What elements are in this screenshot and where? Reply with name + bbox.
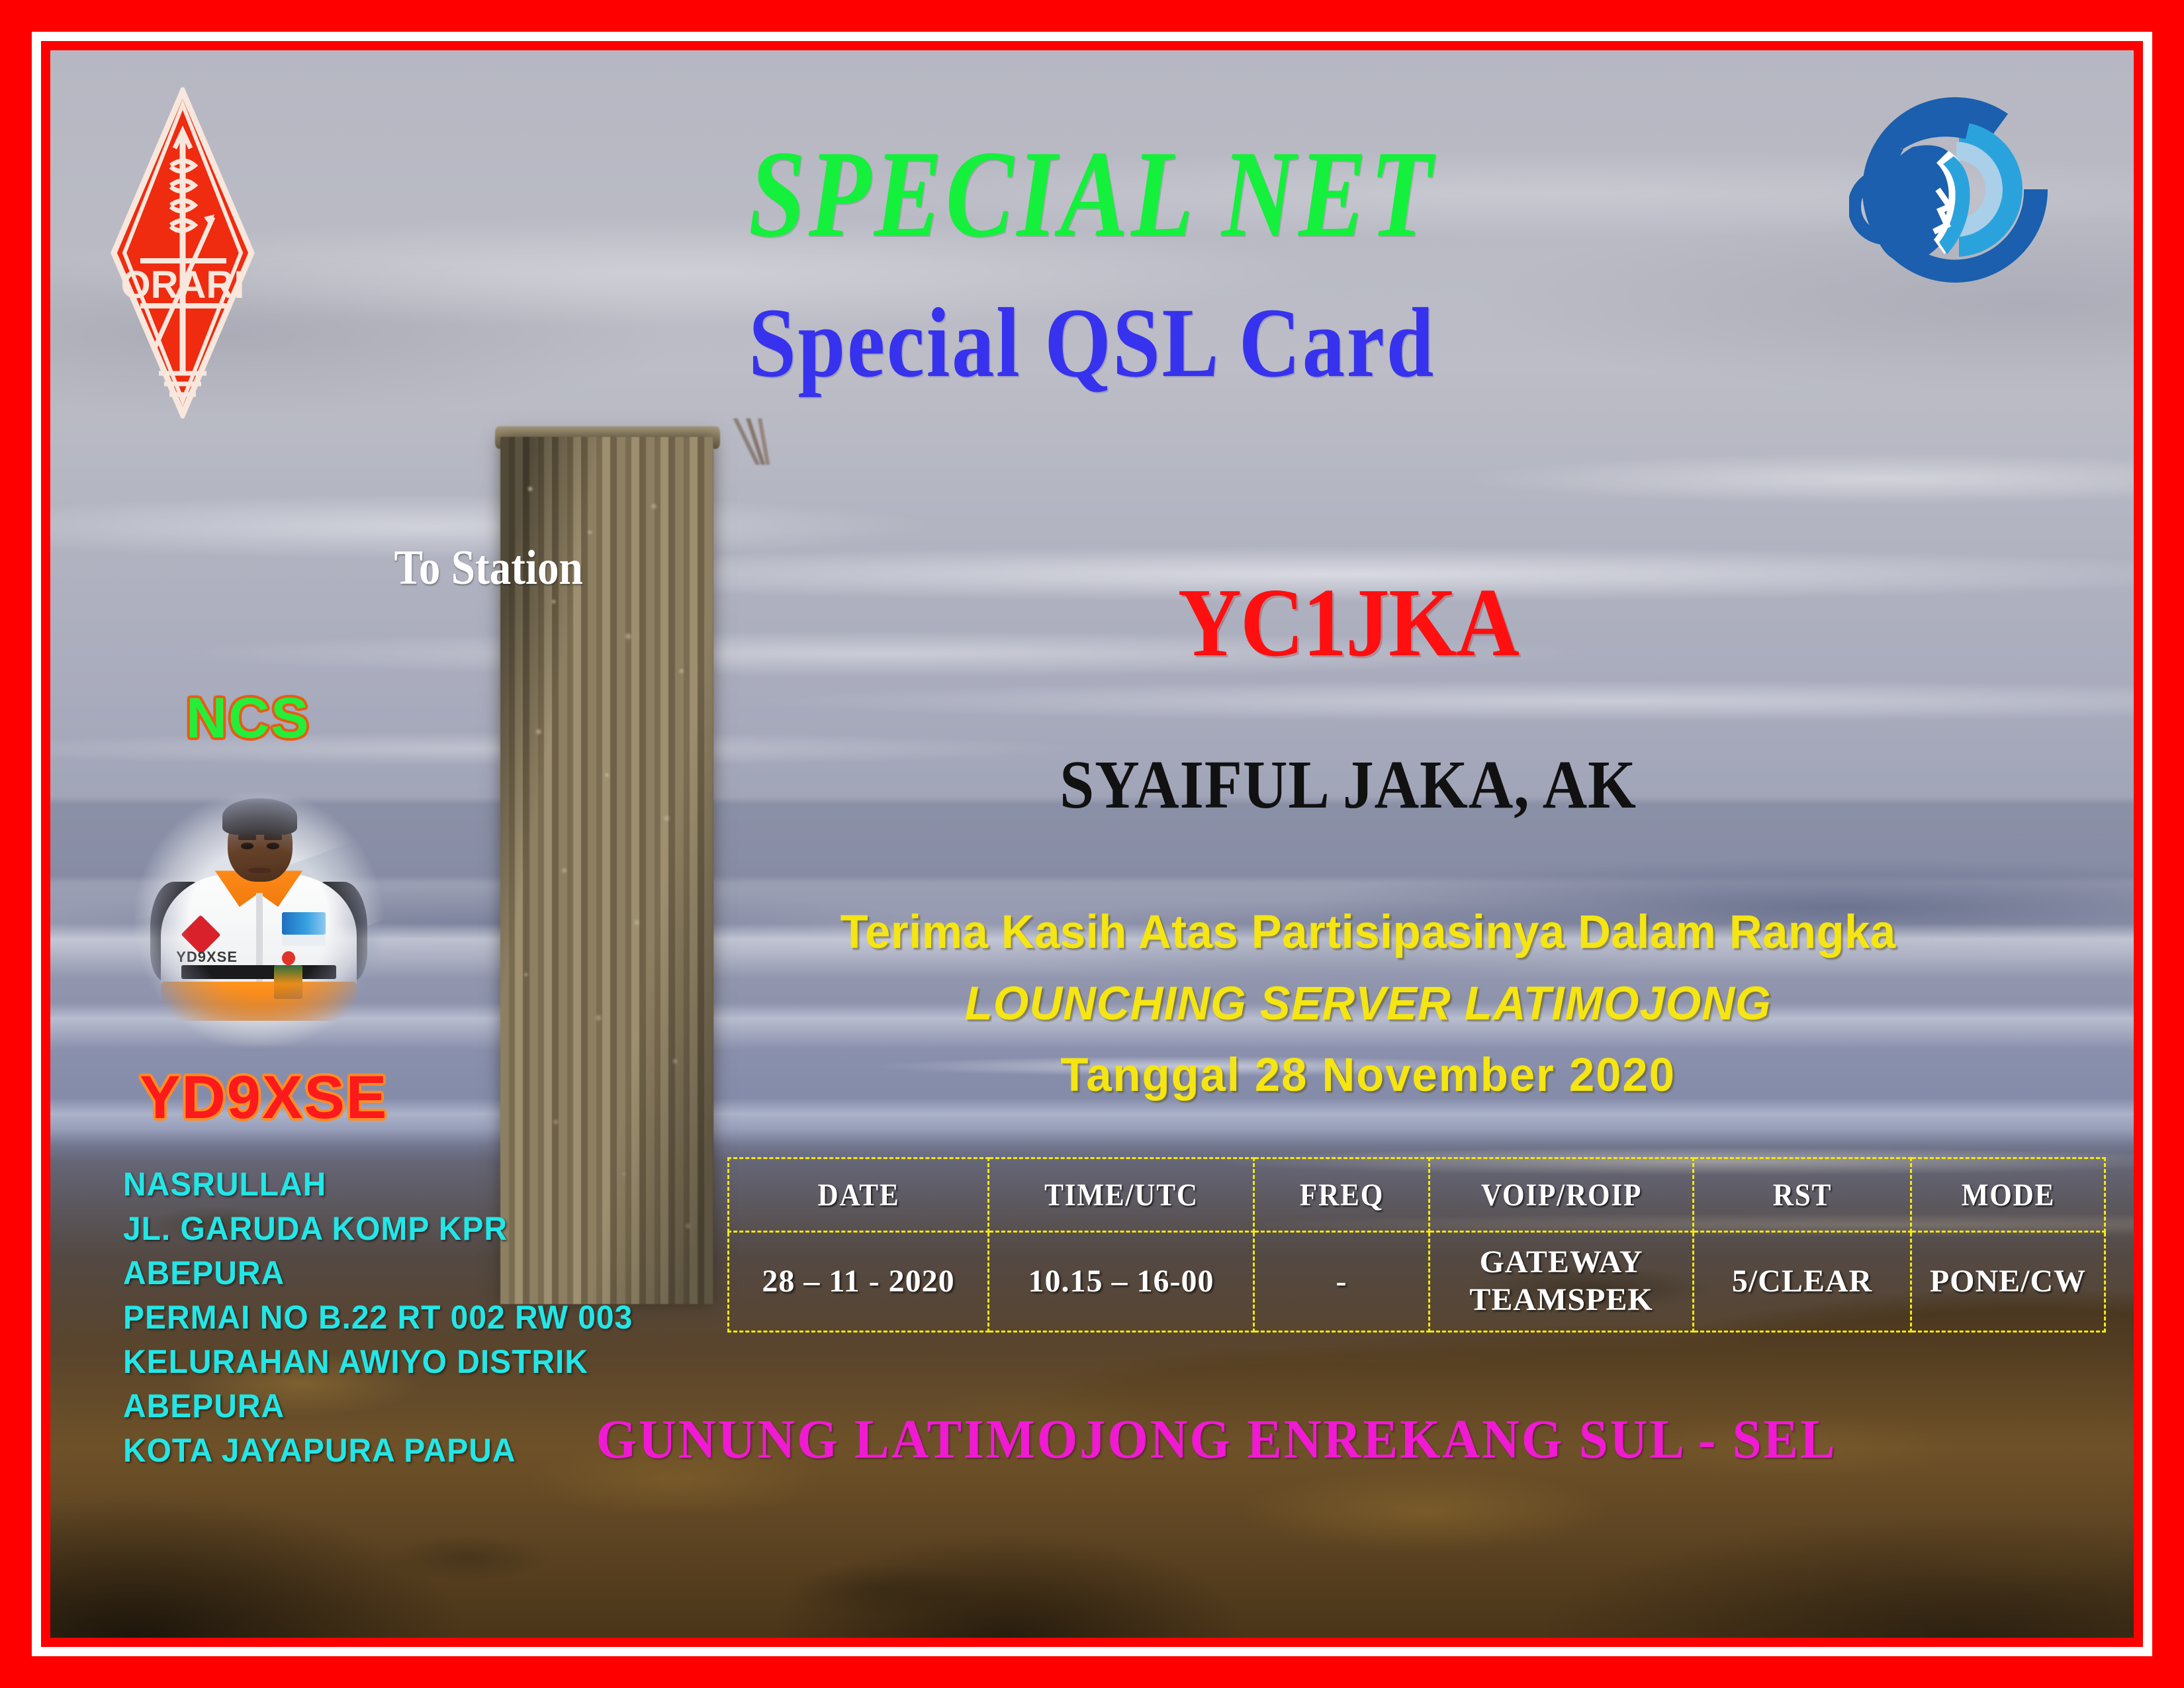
page-subtitle: Special QSL Card bbox=[196, 286, 1987, 400]
column-header-time: TIME/UTC bbox=[1002, 1158, 1241, 1232]
table-row: 28 – 11 - 2020 10.15 – 16-00 - GATEWAY T… bbox=[729, 1232, 2105, 1332]
column-header-mode: MODE bbox=[1921, 1158, 2095, 1232]
cell-date: 28 – 11 - 2020 bbox=[729, 1232, 989, 1332]
column-header-freq: FREQ bbox=[1263, 1158, 1421, 1232]
footer-address: Address : amatir.latimojong.com bbox=[1295, 1635, 1997, 1638]
portrait-eyebrow-left bbox=[238, 835, 256, 840]
thanks-line-3: Tanggal 28 November 2020 bbox=[81, 1049, 2103, 1102]
portrait-eye-left bbox=[241, 843, 254, 849]
location-label: GUNUNG LATIMOJONG ENREKANG SUL - SEL bbox=[113, 1407, 2071, 1472]
qsl-card: ORARI SPECIAL NET Special QSL Card To St… bbox=[0, 0, 2184, 1688]
column-header-rst: RST bbox=[1704, 1158, 1900, 1232]
portrait-eyebrow-right bbox=[264, 835, 282, 840]
station-callsign: YC1JKA bbox=[154, 567, 2029, 679]
card-photo-area: ORARI SPECIAL NET Special QSL Card To St… bbox=[50, 50, 2134, 1638]
portrait-eye-right bbox=[267, 843, 280, 849]
operator-name: SYAIFUL JAKA, AK bbox=[154, 745, 2029, 824]
footer-motto: "AMATIR RADIO ADALAH PROGRESIVE" bbox=[123, 1635, 1106, 1638]
ncs-label: NCS bbox=[186, 686, 310, 751]
cell-freq: - bbox=[1254, 1232, 1430, 1332]
column-header-voip-roip: VOIP/ROIP bbox=[1442, 1158, 1680, 1232]
portrait-mouth bbox=[248, 868, 271, 873]
cell-rst: 5/CLEAR bbox=[1694, 1232, 1911, 1332]
thanks-line-2: LOUNCHING SERVER LATIMOJONG bbox=[81, 977, 2103, 1031]
page-title: SPECIAL NET bbox=[238, 122, 1946, 265]
cell-voip-roip: GATEWAY TEAMSPEK bbox=[1430, 1232, 1694, 1332]
table-header-row: DATE TIME/UTC FREQ VOIP/ROIP RST MODE bbox=[729, 1158, 2105, 1232]
cell-mode: PONE/CW bbox=[1911, 1232, 2105, 1332]
monument-grass bbox=[696, 418, 821, 465]
cell-time: 10.15 – 16-00 bbox=[989, 1232, 1254, 1332]
column-header-date: DATE bbox=[741, 1158, 976, 1232]
portrait-hair bbox=[222, 798, 297, 835]
qso-details-table: DATE TIME/UTC FREQ VOIP/ROIP RST MODE 28… bbox=[727, 1157, 2106, 1333]
thanks-line-1: Terima Kasih Atas Partisipasinya Dalam R… bbox=[81, 906, 2103, 959]
